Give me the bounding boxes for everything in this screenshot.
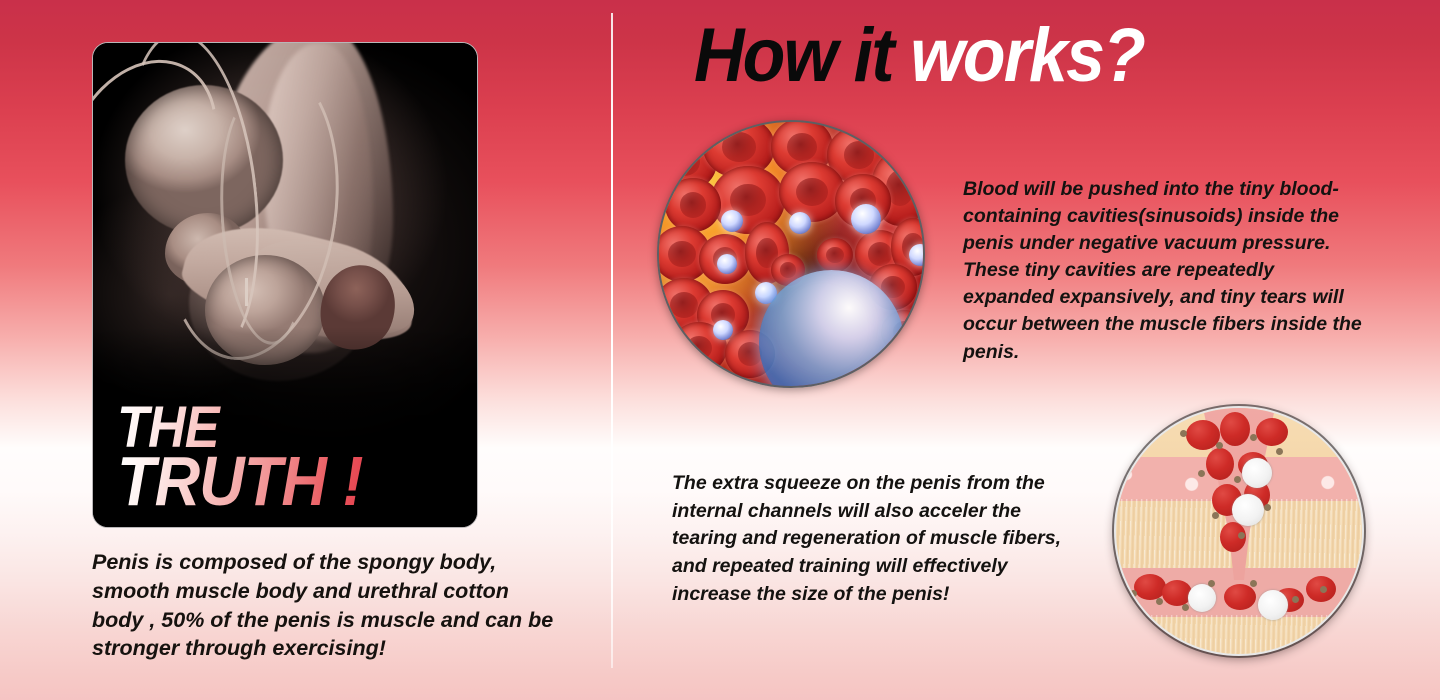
paragraph-blood-pushed: Blood will be pushed into the tiny blood… <box>963 176 1363 366</box>
red-blood-cell <box>779 162 845 222</box>
tissue-dot <box>1238 532 1245 539</box>
platelet <box>851 204 881 234</box>
muscle-band-bottom <box>1114 615 1364 656</box>
paragraph-extra-squeeze: The extra squeeze on the penis from the … <box>672 470 1084 608</box>
red-blood-cell <box>1220 412 1250 446</box>
the-truth-line-2: TRUTH ! <box>117 450 363 513</box>
page-title: How it works? <box>694 18 1144 94</box>
platelet <box>717 254 737 274</box>
platelet <box>713 320 733 340</box>
blood-cells-circle-image <box>657 120 925 388</box>
red-blood-cell <box>1224 584 1256 610</box>
page-title-part-dark: How it <box>694 13 910 98</box>
page-title-part-light: works? <box>910 13 1144 98</box>
platelet <box>721 210 743 232</box>
white-blood-cell <box>1188 584 1216 612</box>
tissue-dot <box>1156 598 1163 605</box>
tissue-dot <box>1320 586 1327 593</box>
tissue-dot <box>1292 596 1299 603</box>
muscle-tear-circle-image <box>1114 406 1364 656</box>
tissue-dot <box>1208 580 1215 587</box>
red-blood-cell <box>1206 448 1234 480</box>
infographic-canvas: THE TRUTH ! Penis is composed of the spo… <box>0 0 1440 700</box>
tissue-dot <box>1198 470 1205 477</box>
tissue-dot <box>1250 434 1257 441</box>
tissue-dot <box>1130 590 1137 597</box>
platelet <box>789 212 811 234</box>
tissue-dot <box>1216 442 1223 449</box>
platelet <box>909 244 925 266</box>
white-blood-cell <box>1242 458 1272 488</box>
red-blood-cell <box>1256 418 1288 446</box>
red-blood-cell <box>1134 574 1166 600</box>
white-blood-cell <box>1232 494 1264 526</box>
white-blood-cell <box>1258 590 1288 620</box>
the-truth-overlay-title: THE TRUTH ! <box>117 402 363 513</box>
left-caption-text: Penis is composed of the spongy body, sm… <box>92 548 562 663</box>
tissue-dot <box>1264 504 1271 511</box>
urethra-marker <box>245 278 248 306</box>
tissue-dot <box>1182 604 1189 611</box>
tissue-dot <box>1250 580 1257 587</box>
red-blood-cell <box>817 238 853 272</box>
red-blood-cell <box>1162 580 1192 606</box>
red-blood-cell <box>1186 420 1220 450</box>
tissue-dot <box>1234 476 1241 483</box>
red-blood-cell <box>665 178 721 232</box>
tissue-dot <box>1212 512 1219 519</box>
tissue-dot <box>1180 430 1187 437</box>
tissue-dot <box>1276 448 1283 455</box>
vertical-divider <box>611 13 613 668</box>
anatomy-image-panel: THE TRUTH ! <box>92 42 478 528</box>
